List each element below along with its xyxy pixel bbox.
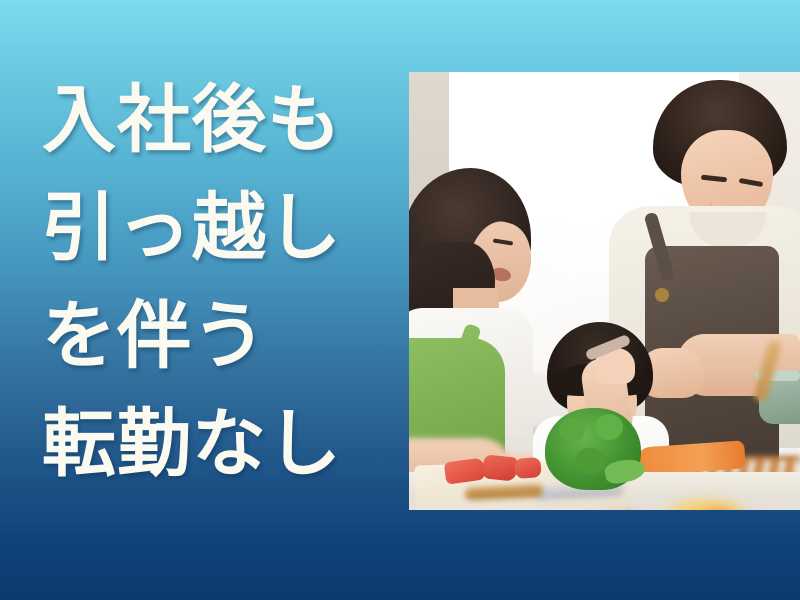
family-kitchen-photo xyxy=(409,72,800,510)
tomato-slice-3 xyxy=(514,457,541,479)
broccoli-floret-1 xyxy=(559,418,585,442)
tomato-slice-2 xyxy=(482,454,518,481)
headline-line-1: 入社後も xyxy=(42,66,392,174)
broccoli-floret-2 xyxy=(595,414,623,440)
headline-line-4: 転勤なし xyxy=(42,390,392,498)
man-apron-button xyxy=(655,288,669,302)
recruitment-banner: 入社後も 引っ越し を伴う 転勤なし xyxy=(0,0,800,600)
headline-line-3: を伴う xyxy=(42,282,392,390)
counter-highlight xyxy=(409,496,800,510)
headline: 入社後も 引っ越し を伴う 転勤なし xyxy=(42,66,392,498)
headline-line-2: 引っ越し xyxy=(42,174,392,282)
broccoli-floret-3 xyxy=(575,448,605,474)
